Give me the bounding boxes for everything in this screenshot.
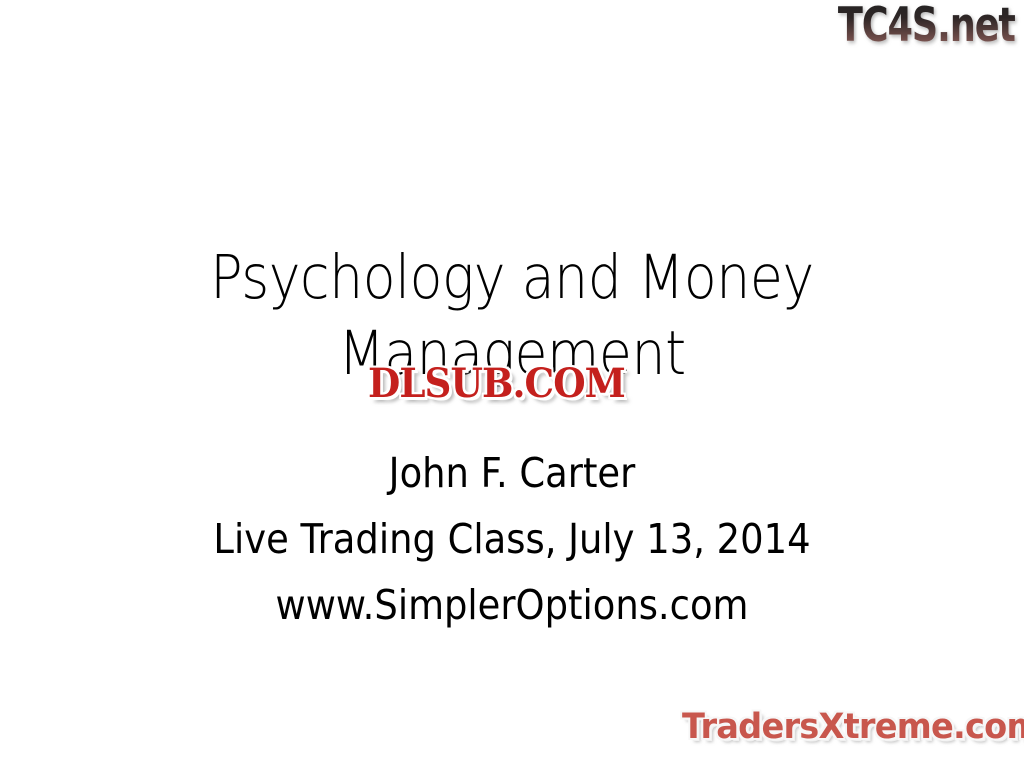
tradersxtreme-watermark: TradersXtreme.com <box>682 707 1024 747</box>
subtitle-line-website: www.SimplerOptions.com <box>51 572 973 638</box>
slide-subtitle: John F. Carter Live Trading Class, July … <box>0 440 1024 638</box>
dlsub-watermark: DLSUB.COM <box>368 362 625 406</box>
subtitle-line-class-date: Live Trading Class, July 13, 2014 <box>51 506 973 572</box>
title-line-1: Psychology and Money <box>61 240 962 316</box>
presentation-slide: TC4S.net Psychology and Money Management… <box>0 0 1024 768</box>
subtitle-line-presenter: John F. Carter <box>51 440 973 506</box>
tc4s-watermark: TC4S.net <box>838 0 1015 52</box>
